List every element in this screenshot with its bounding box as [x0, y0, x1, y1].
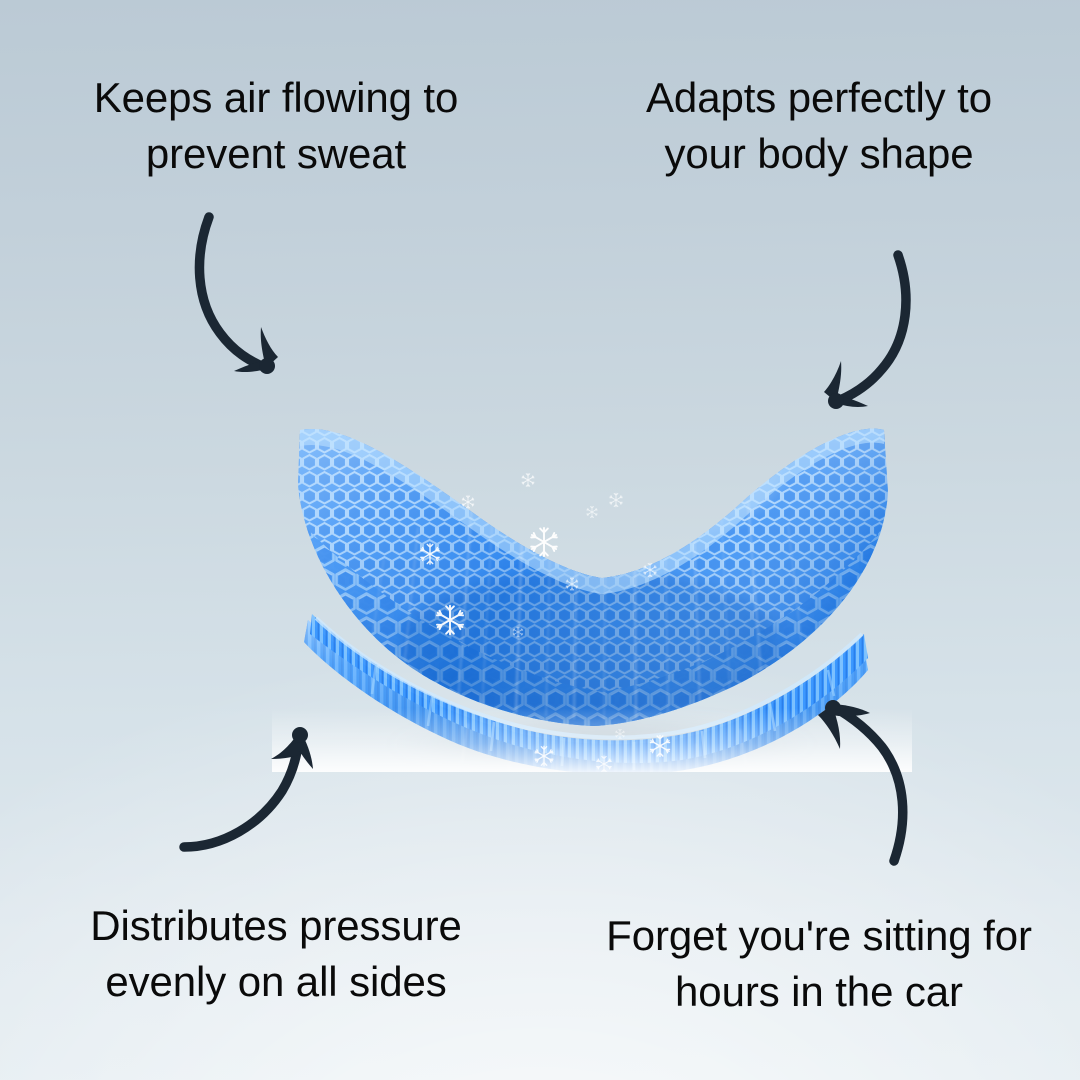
callout-bottom-left: Distributes pressure evenly on all sides — [36, 898, 516, 1010]
product-image-honeycomb-gel-cushion — [272, 352, 912, 772]
bottom-fade — [272, 708, 912, 772]
callout-top-right: Adapts perfectly to your body shape — [588, 70, 1050, 182]
infographic-canvas: Keeps air flowing to prevent sweat Adapt… — [0, 0, 1080, 1080]
callout-bottom-right: Forget you're sitting for hours in the c… — [578, 908, 1060, 1020]
callout-top-left: Keeps air flowing to prevent sweat — [36, 70, 516, 182]
